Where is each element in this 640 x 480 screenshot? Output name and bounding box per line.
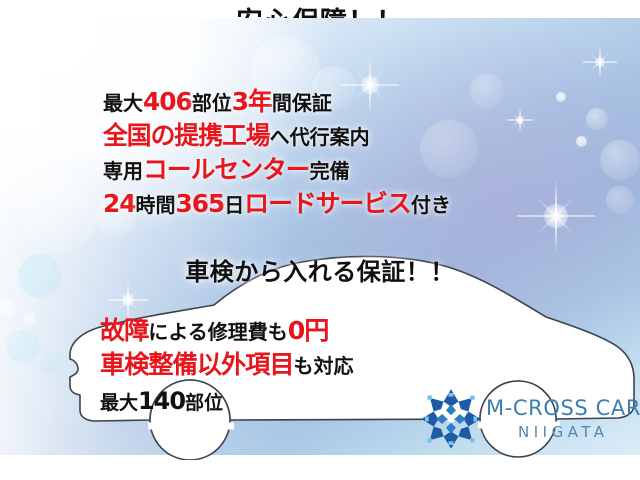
brand-name: M-CROSS CARS — [486, 396, 640, 420]
feature-line-4-seg-3: 日 — [224, 193, 244, 217]
snowflake-icon — [420, 388, 482, 450]
feature-line-4: 24時間365日ロードサービス付き — [103, 192, 451, 217]
feature-line-2-seg-0: 全国の提携工場 — [103, 121, 270, 150]
detail-line-1-seg-1: による修理費も — [148, 320, 287, 344]
detail-line-2-seg-0: 車検整備以外項目 — [100, 350, 294, 379]
feature-line-4-seg-4: ロードサービス — [244, 189, 411, 218]
brand-logo: M-CROSS CARS NIIGATA — [420, 388, 638, 452]
feature-line-4-seg-0: 24 — [103, 189, 136, 218]
feature-line-2-seg-1: へ代行案内 — [270, 125, 370, 149]
feature-line-4-seg-1: 時間 — [136, 193, 176, 217]
brand-region: NIIGATA — [518, 423, 609, 441]
sparkle-icon — [341, 56, 399, 114]
feature-line-3-seg-2: 完備 — [310, 159, 350, 183]
detail-line-3-seg-2: 部位 — [185, 392, 223, 414]
detail-line-1-seg-2: 0円 — [288, 316, 329, 345]
feature-line-2: 全国の提携工場へ代行案内 — [103, 124, 370, 149]
feature-line-1-seg-0: 最大 — [103, 91, 143, 115]
section-subtitle: 車検から入れる保証！！ — [0, 252, 640, 287]
sparkle-icon — [507, 107, 533, 133]
feature-line-4-seg-2: 365 — [176, 189, 225, 218]
feature-line-1: 最大406部位3年間保証 — [103, 90, 332, 115]
detail-line-3-seg-0: 最大 — [100, 392, 138, 414]
detail-line-1-seg-0: 故障 — [100, 316, 148, 345]
advertisement-banner: 安心保障！！ 最大406部位3年間保証 全国の提携工場へ代行案内 専用コールセン… — [0, 0, 640, 480]
feature-line-1-seg-3: 3年 — [232, 87, 272, 116]
feature-line-4-seg-5: 付き — [411, 193, 451, 217]
feature-line-3-seg-1: コールセンター — [143, 155, 310, 184]
feature-line-1-seg-2: 部位 — [192, 91, 232, 115]
detail-line-2-seg-1: も対応 — [294, 354, 354, 378]
feature-line-1-seg-4: 間保証 — [272, 91, 332, 115]
sparkle-icon — [583, 45, 617, 79]
feature-line-1-seg-1: 406 — [143, 87, 192, 116]
detail-line-1: 故障による修理費も0円 — [100, 318, 329, 343]
feature-line-3-seg-0: 専用 — [103, 159, 143, 183]
feature-line-3: 専用コールセンター完備 — [103, 158, 350, 183]
detail-line-3: 最大140部位 — [100, 390, 223, 414]
sparkle-icon — [517, 177, 595, 255]
detail-line-3-seg-1: 140 — [138, 387, 185, 415]
detail-line-2: 車検整備以外項目も対応 — [100, 352, 354, 377]
